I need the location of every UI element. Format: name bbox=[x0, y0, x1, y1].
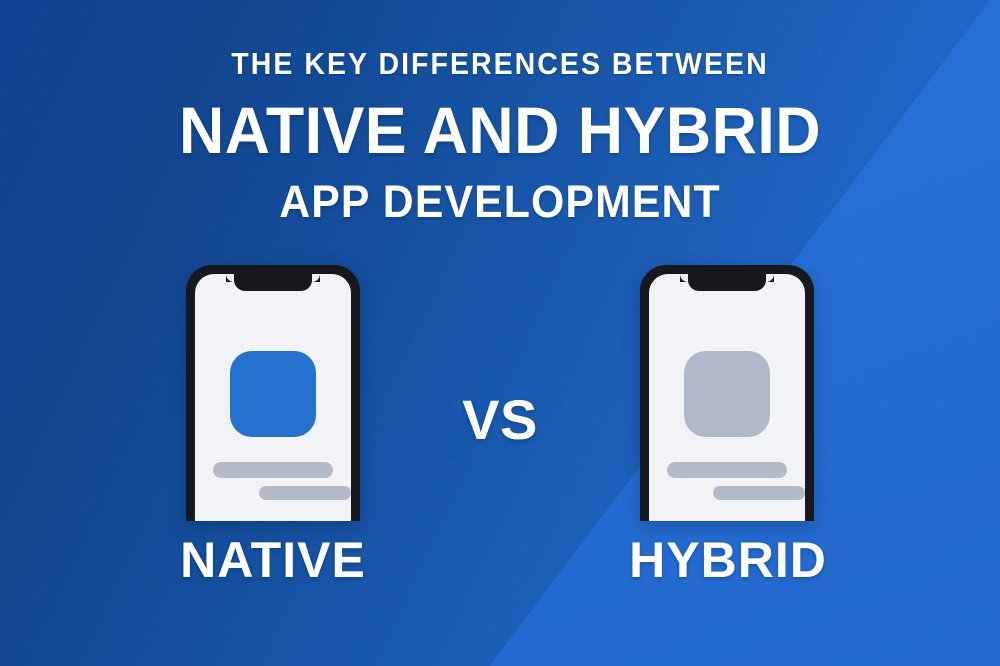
text-placeholder-wide bbox=[213, 462, 333, 478]
kicker-text: THE KEY DIFFERENCES BETWEEN bbox=[40, 48, 960, 79]
page-title: NATIVE AND HYBRID bbox=[25, 97, 975, 163]
poster-canvas: THE KEY DIFFERENCES BETWEEN NATIVE AND H… bbox=[0, 0, 1000, 666]
caption-hybrid: HYBRID bbox=[578, 535, 878, 585]
heading-block: THE KEY DIFFERENCES BETWEEN NATIVE AND H… bbox=[0, 48, 1000, 224]
phone-notch bbox=[234, 274, 312, 291]
page-subtitle: APP DEVELOPMENT bbox=[25, 179, 975, 224]
notch-fillet-left bbox=[226, 274, 234, 282]
text-placeholder-narrow bbox=[713, 486, 805, 500]
phone-notch bbox=[688, 274, 766, 291]
notch-fillet-right bbox=[312, 274, 320, 282]
notch-fillet-left bbox=[680, 274, 688, 282]
versus-label: VS bbox=[0, 392, 1000, 448]
caption-native: NATIVE bbox=[123, 535, 423, 585]
notch-fillet-right bbox=[766, 274, 774, 282]
text-placeholder-narrow bbox=[259, 486, 351, 500]
text-placeholder-wide bbox=[667, 462, 787, 478]
